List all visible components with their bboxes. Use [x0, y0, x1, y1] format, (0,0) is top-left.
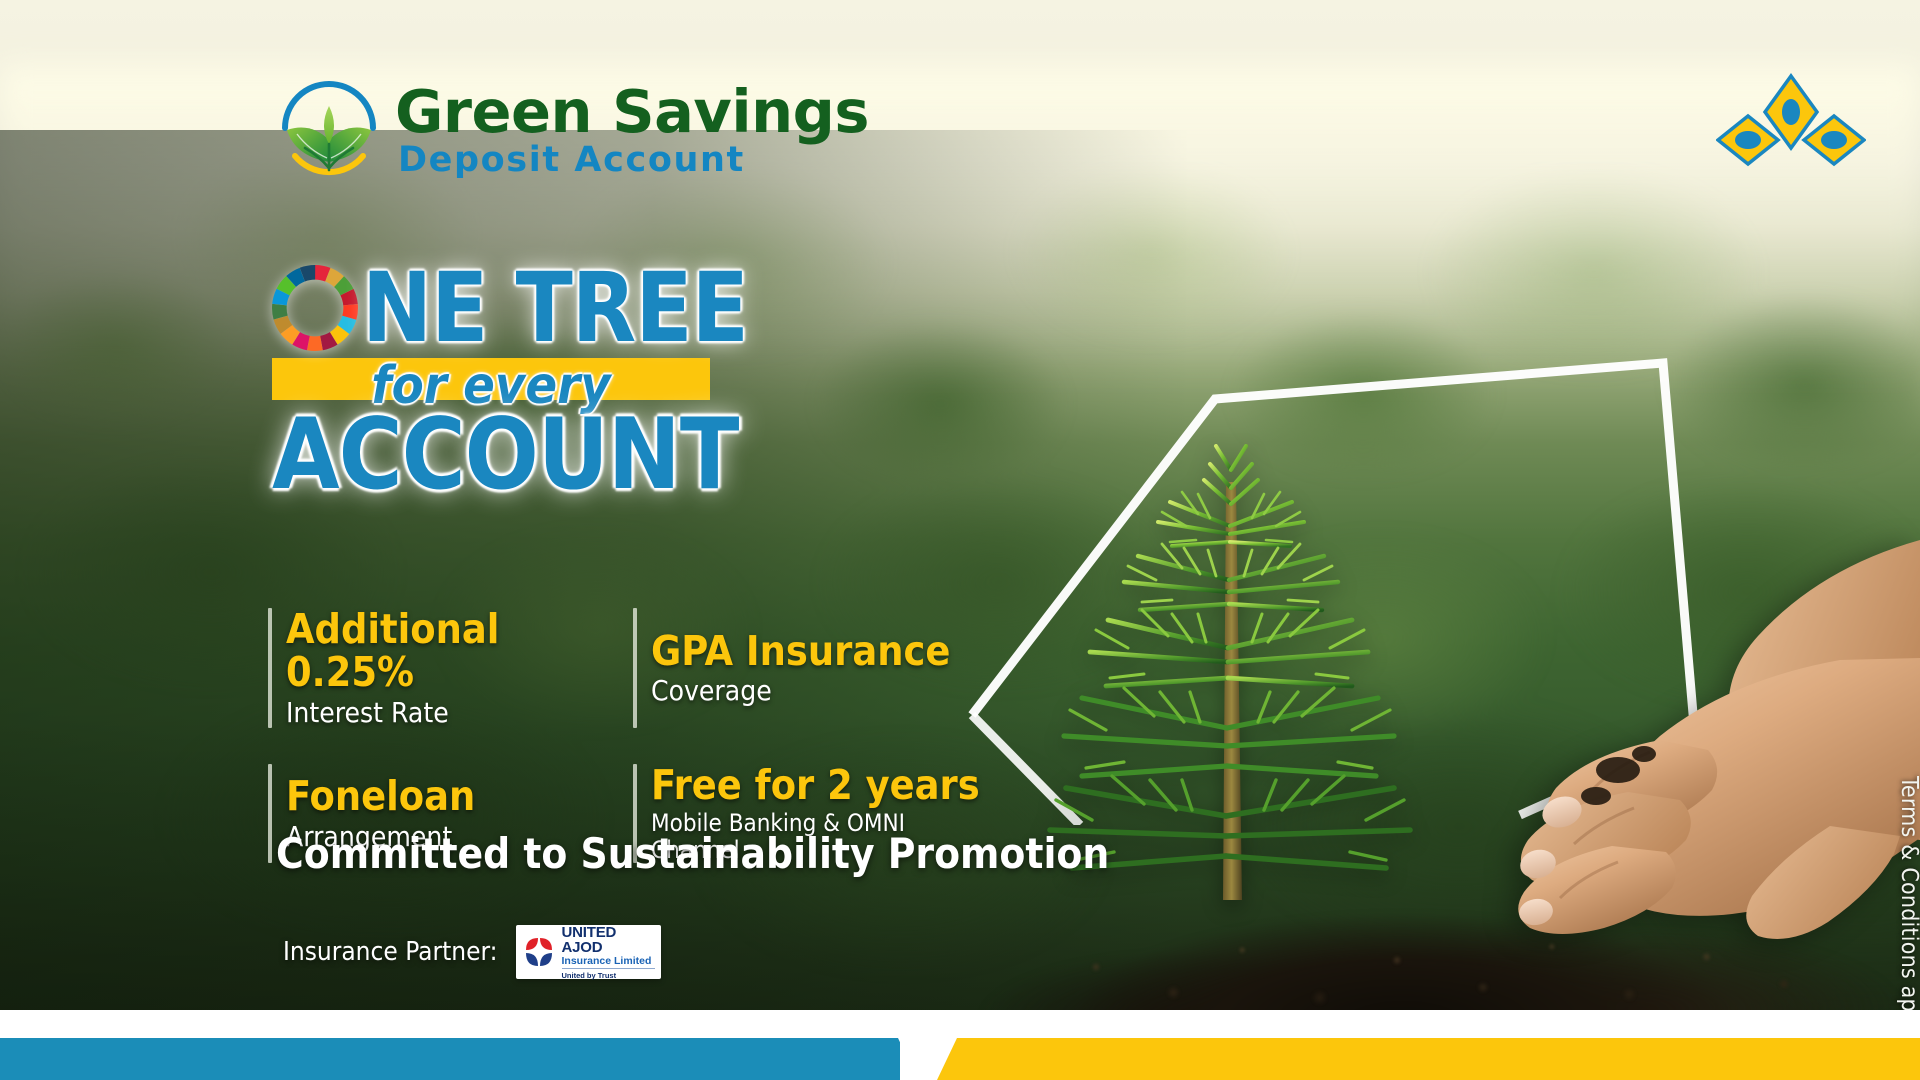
feature-heading: GPA Insurance [651, 630, 950, 673]
brand-title: Green Savings [395, 82, 869, 141]
feature-grid: Additional 0.25% Interest Rate GPA Insur… [268, 608, 993, 863]
feature-heading: Additional 0.25% [286, 608, 633, 695]
banner-canvas: Green Savings Deposit Account [0, 0, 1920, 1080]
brand-logo: Green Savings Deposit Account [277, 78, 869, 182]
feature-heading: Free for 2 years [651, 764, 993, 807]
feature-accent-bar [268, 608, 272, 728]
planting-hands-icon [1360, 540, 1920, 960]
feature-accent-bar [633, 608, 637, 728]
partner-name: UNITED AJOD [562, 925, 655, 955]
feature-subtext: Coverage [651, 675, 950, 706]
headline-yellow-bar: for every [272, 358, 710, 400]
partner-tagline: United by Trust [562, 972, 655, 980]
insurance-partner-label: Insurance Partner: [283, 937, 498, 967]
headline-block: NE TREE for every ACCOUNT [272, 254, 992, 504]
headline-one-tree: NE TREE [362, 260, 748, 356]
brand-subtitle: Deposit Account [395, 143, 869, 178]
feature-heading: Foneloan [286, 775, 475, 818]
feature-subtext: Interest Rate [286, 697, 633, 728]
terms-and-conditions-note: Terms & Conditions apply [1896, 776, 1920, 1044]
headline-line-one: NE TREE [272, 254, 992, 362]
bottom-bar-yellow [935, 1038, 1920, 1080]
bottom-bar [0, 1010, 1920, 1080]
feature-accent-bar [268, 764, 272, 863]
sdg-color-wheel-icon [272, 265, 358, 351]
partner-subname: Insurance Limited [562, 956, 655, 969]
feature-item: GPA Insurance Coverage [633, 608, 993, 728]
insurance-partner-block: Insurance Partner: UNITED AJOD Insurance… [283, 925, 661, 979]
bottom-bar-blue [0, 1038, 900, 1080]
sustainability-tagline: Committed to Sustainability Promotion [276, 833, 1109, 875]
united-ajod-logo: UNITED AJOD Insurance Limited United by … [516, 925, 661, 979]
leaf-circle-icon [277, 78, 381, 182]
headline-account: ACCOUNT [272, 406, 985, 504]
four-petal-icon [522, 936, 556, 968]
feature-item: Additional 0.25% Interest Rate [268, 608, 633, 728]
three-diamonds-icon [1716, 72, 1866, 180]
